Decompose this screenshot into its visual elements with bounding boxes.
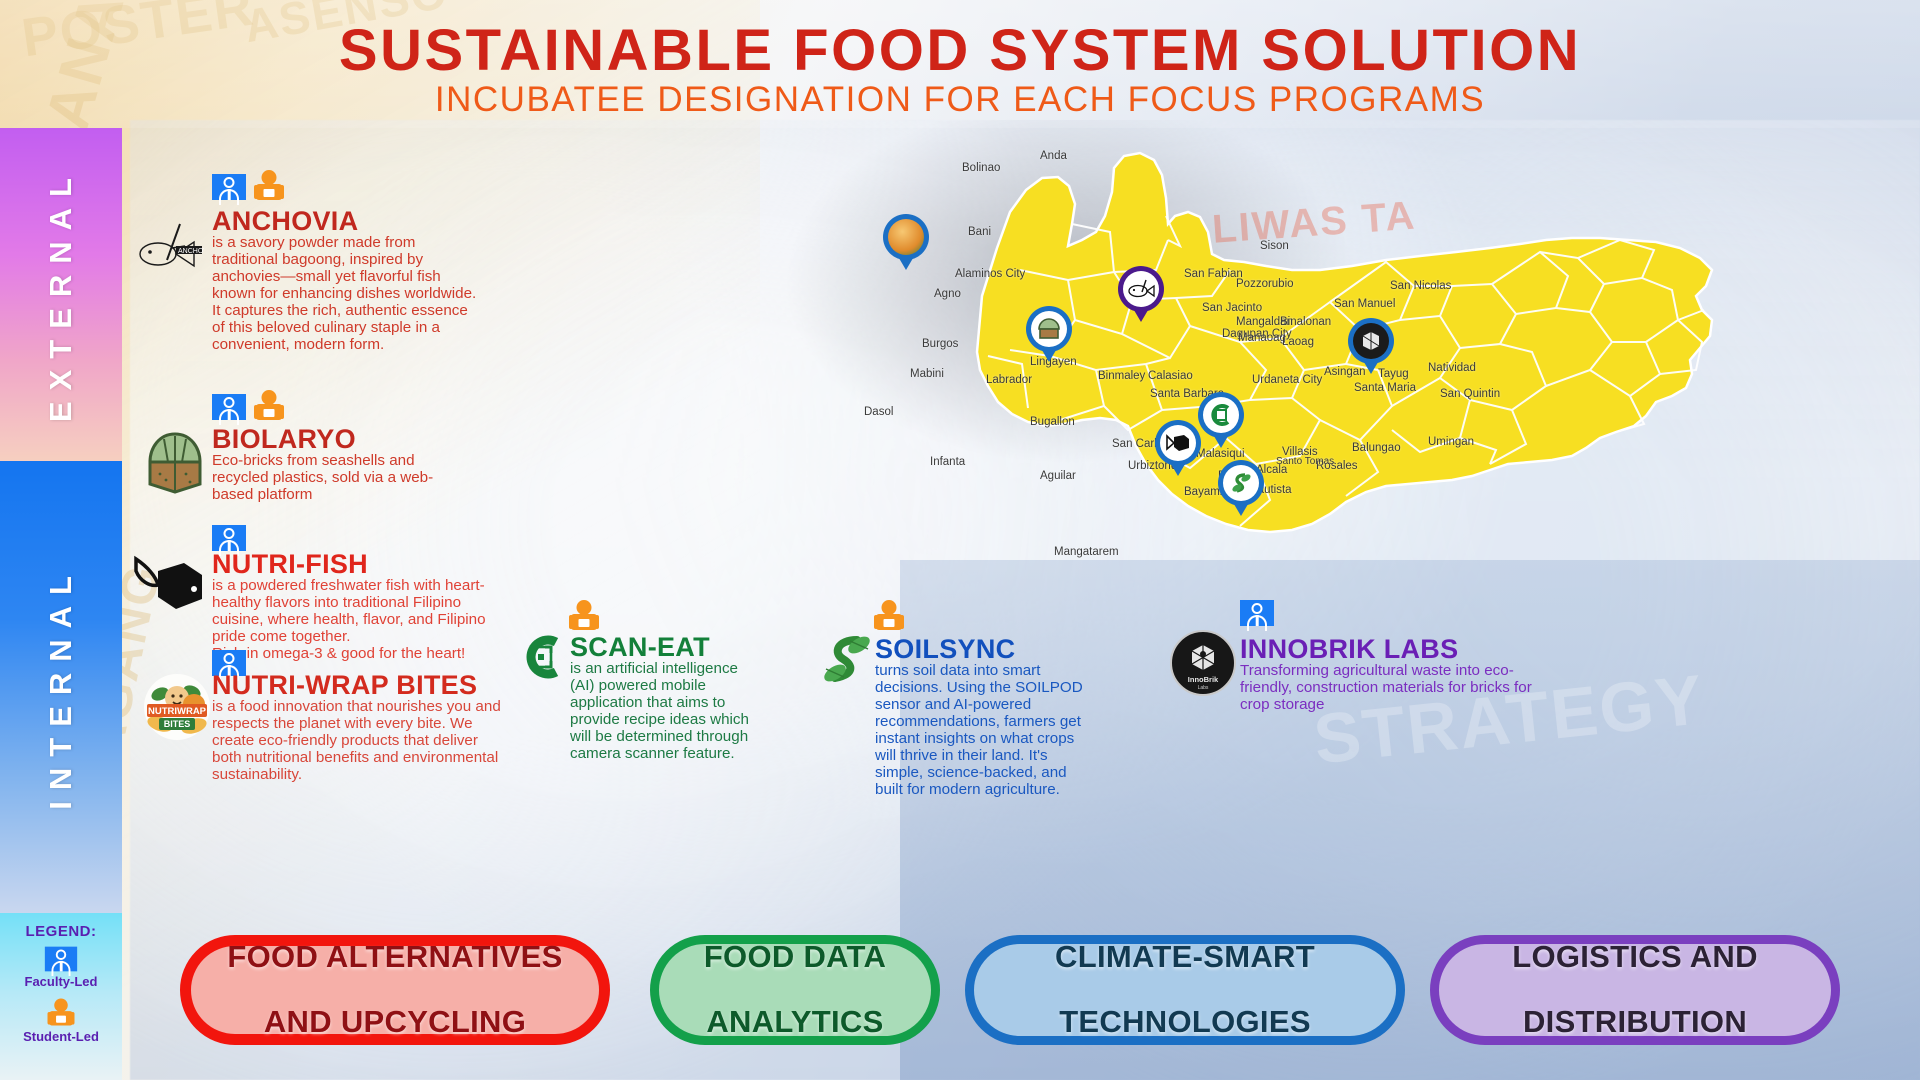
biolaryo-shell-brick-logo bbox=[142, 428, 208, 498]
header-banner: SUSTAINABLE FOOD SYSTEM SOLUTION INCUBAT… bbox=[0, 0, 1920, 128]
faculty-led-icon bbox=[45, 947, 77, 972]
entry-scan-eat-desc: is an artificial intelligence (AI) power… bbox=[570, 660, 756, 762]
rail-internal-label: INTERNAL bbox=[43, 565, 79, 810]
entry-scan-eat-badges bbox=[570, 600, 598, 630]
innobrik-pin-logo bbox=[1353, 323, 1389, 359]
anchovia-pin-logo bbox=[1123, 271, 1159, 307]
map-label-calasiao: Calasiao bbox=[1148, 370, 1193, 382]
entry-anchovia-badges bbox=[212, 170, 283, 200]
pangasinan-map: Bolinao Anda Bani Alaminos City Agno Sua… bbox=[900, 120, 1910, 680]
faculty-led-icon bbox=[212, 174, 246, 200]
map-label-alaminos: Alaminos City bbox=[955, 268, 1025, 280]
program-pill-logistics-distribution[interactable]: LOGISTICS ANDDISTRIBUTION bbox=[1430, 935, 1840, 1045]
entry-soilsync-badges bbox=[875, 600, 903, 630]
map-label-bugallon: Bugallon bbox=[1030, 416, 1075, 428]
program-pill-logistics-distribution-label: LOGISTICS ANDDISTRIBUTION bbox=[1484, 941, 1786, 1040]
map-label-anda: Anda bbox=[1040, 150, 1067, 162]
entry-soilsync-name: SOILSYNC bbox=[875, 636, 1015, 663]
faculty-led-icon bbox=[212, 394, 246, 420]
map-label-urdaneta: Urdaneta City bbox=[1252, 374, 1322, 386]
entry-innobrik-labs-desc: Transforming agricultural waste into eco… bbox=[1240, 662, 1540, 713]
entry-biolaryo-desc: Eco-bricks from seashells and recycled p… bbox=[212, 452, 472, 503]
biolaryo-pin-logo bbox=[1031, 311, 1067, 347]
nutri-fish-box-logo bbox=[132, 553, 208, 619]
entry-scan-eat-name: SCAN-EAT bbox=[570, 634, 710, 661]
innobrik-logo-text: InnoBrik bbox=[1188, 675, 1219, 684]
map-pin-scan-eat[interactable] bbox=[1198, 392, 1244, 452]
map-label-san-jacinto: San Jacinto bbox=[1202, 302, 1262, 314]
entry-innobrik-labs-name: INNOBRIK LABS bbox=[1240, 636, 1458, 663]
map-pin-nutri-fish[interactable] bbox=[1155, 420, 1201, 480]
entry-anchovia-desc: is a savory powder made from traditional… bbox=[212, 234, 480, 353]
map-label-labrador: Labrador bbox=[986, 374, 1032, 386]
map-label-agno: Agno bbox=[934, 288, 961, 300]
soilsync-pin-logo bbox=[1223, 465, 1259, 501]
student-led-icon bbox=[570, 600, 598, 630]
map-label-burgos: Burgos bbox=[922, 338, 958, 350]
map-label-san-nicolas: San Nicolas bbox=[1390, 280, 1451, 292]
entry-biolaryo-badges bbox=[212, 390, 283, 420]
map-pin-nutriwrap-bites[interactable] bbox=[883, 214, 929, 274]
program-pill-food-alternatives-label: FOOD ALTERNATIVESAND UPCYCLING bbox=[199, 941, 590, 1040]
student-led-icon bbox=[48, 999, 73, 1026]
scan-eat-logo bbox=[512, 628, 570, 686]
map-label-laoag: Laoag bbox=[1282, 336, 1314, 348]
map-label-binalonan: Binalonan bbox=[1280, 316, 1331, 328]
innobrik-labs-logo: InnoBrik Labs bbox=[1170, 630, 1236, 696]
map-label-bani: Bani bbox=[968, 226, 991, 238]
program-pill-climate-smart[interactable]: CLIMATE-SMARTTECHNOLOGIES bbox=[965, 935, 1405, 1045]
map-label-infanta: Infanta bbox=[930, 456, 965, 468]
map-label-binmaley: Binmaley bbox=[1098, 370, 1145, 382]
infographic-canvas: POSTER ASENSO SANAY ALAGANG STRATEGY ALI… bbox=[0, 0, 1920, 1080]
nutri-fish-pin-logo bbox=[1160, 425, 1196, 461]
map-label-santa-maria: Santa Maria bbox=[1354, 382, 1416, 394]
innobrik-logo-subtext: Labs bbox=[1198, 685, 1209, 691]
entry-nutri-wrap-bites-name: NUTRI-WRAP BITES bbox=[212, 672, 477, 699]
map-svg bbox=[900, 120, 1910, 680]
rail-external: EXTERNAL bbox=[0, 128, 122, 461]
nutriwrap-bites-logo: NUTRIWRAP BITES bbox=[142, 672, 212, 742]
map-label-mangatarem: Mangatarem bbox=[1054, 546, 1119, 558]
map-label-santo-tomas: Santo Tomas bbox=[1276, 456, 1334, 467]
rail-external-label: EXTERNAL bbox=[43, 167, 79, 422]
map-pin-soilsync[interactable] bbox=[1218, 460, 1264, 520]
map-label-balungao: Balungao bbox=[1352, 442, 1401, 454]
program-pill-climate-smart-label: CLIMATE-SMARTTECHNOLOGIES bbox=[1027, 941, 1343, 1040]
map-label-bolinao: Bolinao bbox=[962, 162, 1000, 174]
entry-anchovia-name: ANCHOVIA bbox=[212, 208, 358, 235]
entry-innobrik-labs-badges bbox=[1240, 600, 1274, 626]
scan-eat-pin-logo bbox=[1203, 397, 1239, 433]
svg-text:ANCHOVIA: ANCHOVIA bbox=[178, 248, 204, 255]
legend-item-student-label: Student-Led bbox=[23, 1029, 99, 1044]
map-region-fill bbox=[977, 153, 1712, 532]
entry-nutri-wrap-bites-desc: is a food innovation that nourishes you … bbox=[212, 698, 502, 783]
rail-internal: INTERNAL bbox=[0, 461, 122, 913]
map-label-natividad: Natividad bbox=[1428, 362, 1476, 374]
student-led-icon bbox=[255, 170, 283, 200]
anchovia-fish-logo: ANCHOVIA bbox=[136, 220, 204, 272]
legend-title: LEGEND: bbox=[26, 923, 97, 940]
entry-nutri-fish-desc: is a powdered freshwater fish with heart… bbox=[212, 577, 512, 662]
map-pin-innobrik[interactable] bbox=[1348, 318, 1394, 378]
map-label-san-manuel: San Manuel bbox=[1334, 298, 1395, 310]
program-pill-food-data-analytics[interactable]: FOOD DATAANALYTICS bbox=[650, 935, 940, 1045]
map-label-aguilar: Aguilar bbox=[1040, 470, 1076, 482]
map-label-sison: Sison bbox=[1260, 240, 1289, 252]
map-pin-anchovia[interactable] bbox=[1118, 266, 1164, 326]
nutriwrap-bites-pin-logo bbox=[888, 219, 924, 255]
entry-soilsync-desc: turns soil data into smart decisions. Us… bbox=[875, 662, 1097, 798]
student-led-icon bbox=[255, 390, 283, 420]
faculty-led-icon bbox=[1240, 600, 1274, 626]
page-title: SUSTAINABLE FOOD SYSTEM SOLUTION bbox=[0, 22, 1920, 80]
entry-nutri-fish-badges bbox=[212, 525, 246, 551]
program-pill-food-alternatives[interactable]: FOOD ALTERNATIVESAND UPCYCLING bbox=[180, 935, 610, 1045]
svg-text:BITES: BITES bbox=[164, 719, 191, 729]
map-label-dasol: Dasol bbox=[864, 406, 893, 418]
map-label-umingan: Umingan bbox=[1428, 436, 1474, 448]
map-pin-biolaryo[interactable] bbox=[1026, 306, 1072, 366]
program-pill-food-data-analytics-label: FOOD DATAANALYTICS bbox=[676, 941, 914, 1040]
map-label-san-fabian: San Fabian bbox=[1184, 268, 1243, 280]
legend-item-faculty-label: Faculty-Led bbox=[25, 974, 98, 989]
map-label-manaoag: Manaoag bbox=[1238, 332, 1286, 344]
page-subtitle: INCUBATEE DESIGNATION FOR EACH FOCUS PRO… bbox=[0, 82, 1920, 117]
soilsync-leaf-logo bbox=[817, 630, 875, 688]
entry-biolaryo-name: BIOLARYO bbox=[212, 426, 356, 453]
map-label-pozzorubio: Pozzorubio bbox=[1236, 278, 1294, 290]
entry-nutri-fish-name: NUTRI-FISH bbox=[212, 551, 368, 578]
student-led-icon bbox=[875, 600, 903, 630]
map-label-mabini: Mabini bbox=[910, 368, 944, 380]
svg-text:NUTRIWRAP: NUTRIWRAP bbox=[148, 706, 207, 717]
map-label-san-quintin: San Quintin bbox=[1440, 388, 1500, 400]
faculty-led-icon bbox=[212, 525, 246, 551]
legend-panel: LEGEND: Faculty-Led Student-Led bbox=[0, 913, 122, 1080]
